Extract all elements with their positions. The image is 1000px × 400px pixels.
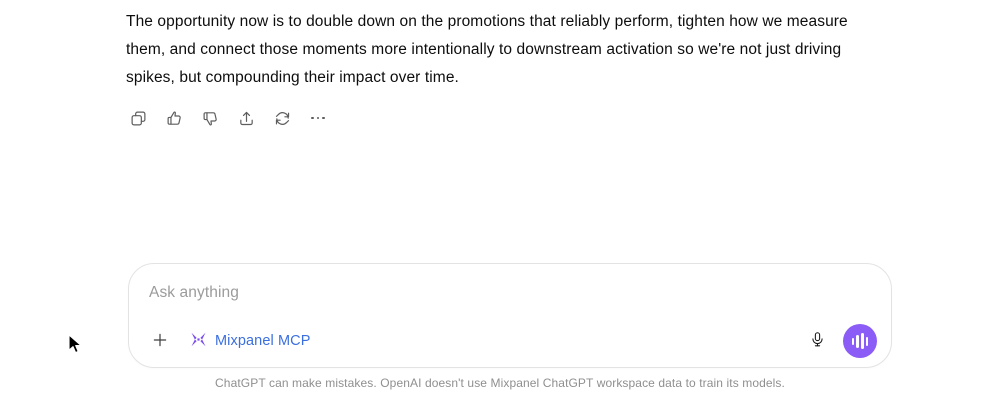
microphone-button[interactable] xyxy=(803,327,831,355)
voice-mode-button[interactable] xyxy=(843,324,877,358)
composer-right-controls xyxy=(803,324,877,358)
thumbs-up-button[interactable] xyxy=(160,104,188,132)
assistant-message: The opportunity now is to double down on… xyxy=(126,8,886,92)
copy-button[interactable] xyxy=(124,104,152,132)
regenerate-button[interactable] xyxy=(268,104,296,132)
assistant-message-text: The opportunity now is to double down on… xyxy=(126,8,886,92)
thumbs-up-icon xyxy=(166,110,183,127)
thumbs-down-button[interactable] xyxy=(196,104,224,132)
add-attachment-button[interactable] xyxy=(147,328,173,354)
share-upload-icon xyxy=(238,110,255,127)
composer-left-controls: Mixpanel MCP xyxy=(147,327,316,355)
composer-input[interactable]: Ask anything xyxy=(149,282,871,304)
more-options-icon xyxy=(311,117,324,120)
share-button[interactable] xyxy=(232,104,260,132)
composer-toolbar: Mixpanel MCP xyxy=(129,315,891,367)
mixpanel-mcp-label: Mixpanel MCP xyxy=(215,333,310,349)
more-options-button[interactable] xyxy=(304,104,332,132)
disclaimer-text: ChatGPT can make mistakes. OpenAI doesn'… xyxy=(0,376,1000,390)
microphone-icon xyxy=(809,331,826,351)
regenerate-icon xyxy=(274,110,291,127)
message-action-bar xyxy=(124,104,332,132)
mouse-pointer-icon xyxy=(68,334,84,356)
mixpanel-logo-icon xyxy=(189,330,208,352)
plus-icon xyxy=(151,331,169,352)
message-composer[interactable]: Ask anything xyxy=(128,263,892,368)
mixpanel-mcp-chip[interactable]: Mixpanel MCP xyxy=(183,327,316,355)
copy-icon xyxy=(130,110,147,127)
thumbs-down-icon xyxy=(202,110,219,127)
voice-waveform-icon xyxy=(852,333,869,349)
composer-input-wrapper[interactable]: Ask anything xyxy=(149,282,871,304)
